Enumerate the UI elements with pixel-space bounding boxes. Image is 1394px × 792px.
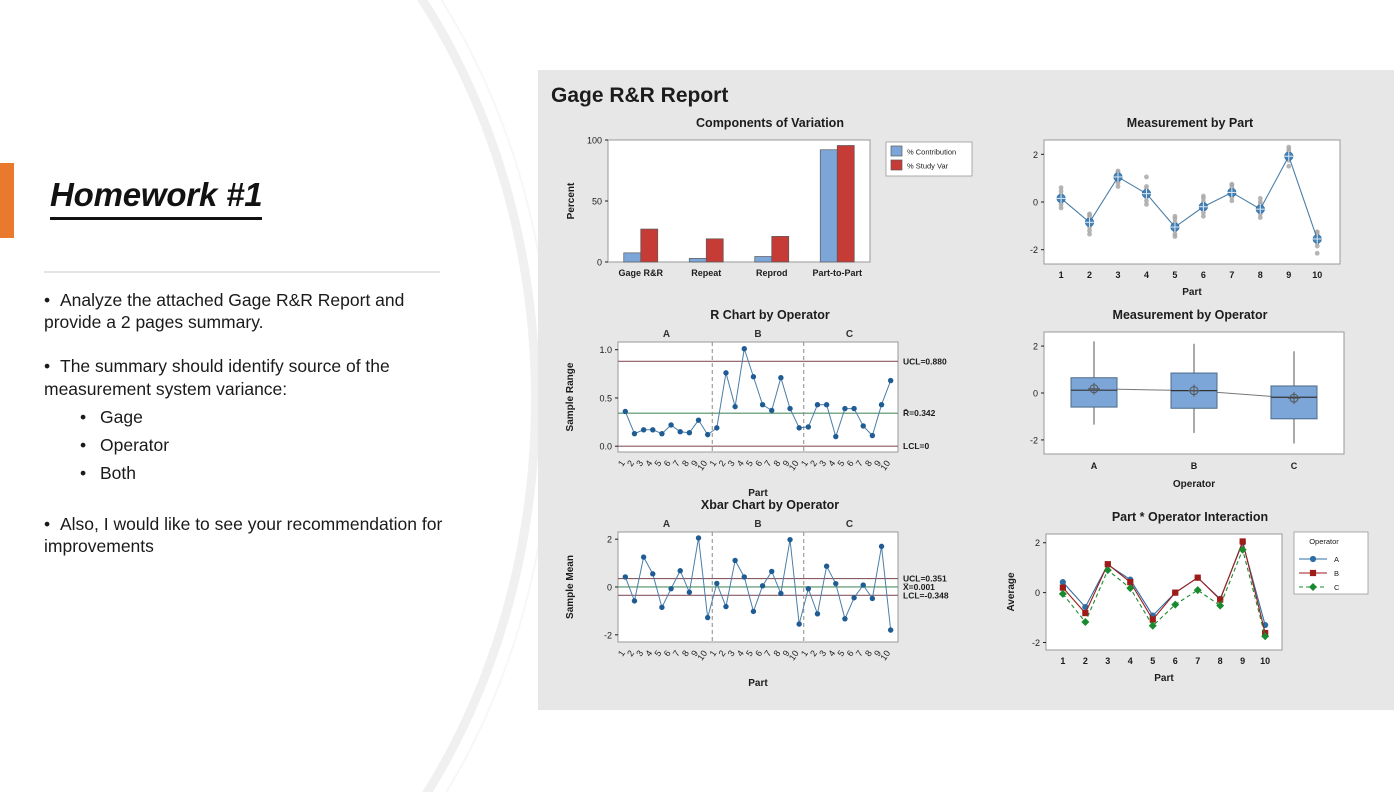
svg-text:10: 10 <box>787 648 801 662</box>
svg-text:0: 0 <box>597 258 602 268</box>
chart-title: Components of Variation <box>560 116 980 130</box>
svg-text:9: 9 <box>1286 270 1291 280</box>
chart-title: Xbar Chart by Operator <box>560 498 980 512</box>
svg-text:7: 7 <box>1229 270 1234 280</box>
svg-text:5: 5 <box>1150 656 1155 666</box>
svg-text:10: 10 <box>695 458 709 472</box>
sub-bullet-text: Gage <box>100 407 143 427</box>
svg-text:100: 100 <box>587 136 602 146</box>
bullet-dot-icon: • <box>80 462 100 484</box>
svg-text:A: A <box>1091 461 1098 471</box>
svg-text:10: 10 <box>787 458 801 472</box>
list-item: •Gage <box>80 406 444 428</box>
svg-text:10: 10 <box>878 458 892 472</box>
svg-text:Repeat: Repeat <box>691 268 721 278</box>
slide-canvas: Homework #1 •Analyze the attached Gage R… <box>0 0 1394 792</box>
sub-bullet-text: Both <box>100 463 136 483</box>
chart-components-of-variation: Components of Variation 050100PercentGag… <box>560 116 980 307</box>
gage-rr-report-panel: Gage R&R Report Components of Variation … <box>538 70 1394 710</box>
chart-xbar-chart-by-operator: Xbar Chart by Operator -202Sample MeanAB… <box>560 498 980 694</box>
svg-text:Part-to-Part: Part-to-Part <box>812 268 862 278</box>
bullet-text: Analyze the attached Gage R&R Report and… <box>44 290 404 332</box>
svg-text:7: 7 <box>1195 656 1200 666</box>
bullet-dot-icon: • <box>44 355 60 377</box>
chart-title: R Chart by Operator <box>560 308 980 322</box>
list-item: •The summary should identify source of t… <box>44 355 444 399</box>
svg-text:Part: Part <box>1182 287 1202 298</box>
svg-text:A: A <box>663 519 670 530</box>
svg-text:1: 1 <box>1059 270 1064 280</box>
svg-text:10: 10 <box>695 648 709 662</box>
svg-text:Reprod: Reprod <box>756 268 788 278</box>
chart-measurement-by-part: Measurement by Part -20212345678910Part <box>1000 116 1380 307</box>
accent-bar <box>0 163 14 238</box>
chart-canvas: 0.00.51.0Sample RangeABC1234567891012345… <box>560 324 980 502</box>
list-item: •Both <box>80 462 444 484</box>
spacer <box>44 491 444 513</box>
page-title: Homework #1 <box>50 176 262 220</box>
svg-text:-2: -2 <box>604 630 612 640</box>
svg-text:Operator: Operator <box>1309 537 1339 546</box>
chart-title: Measurement by Part <box>1000 116 1380 130</box>
svg-text:4: 4 <box>1128 656 1133 666</box>
spacer <box>44 333 444 355</box>
svg-text:UCL=0.880: UCL=0.880 <box>903 356 947 366</box>
svg-text:B: B <box>754 519 761 530</box>
bullet-dot-icon: • <box>44 289 60 311</box>
svg-text:C: C <box>846 519 853 530</box>
chart-canvas: -202Average12345678910PartOperatorABC <box>1000 526 1380 696</box>
svg-text:2: 2 <box>1033 342 1038 352</box>
bullet-dot-icon: • <box>80 434 100 456</box>
svg-text:50: 50 <box>592 197 602 207</box>
svg-text:Sample Mean: Sample Mean <box>565 555 576 619</box>
chart-canvas: -20212345678910Part <box>1000 132 1380 307</box>
svg-text:6: 6 <box>1173 656 1178 666</box>
svg-text:R̄=0.342: R̄=0.342 <box>903 408 936 418</box>
svg-text:% Study Var: % Study Var <box>907 162 949 171</box>
svg-text:A: A <box>1334 555 1339 564</box>
svg-text:2: 2 <box>1033 150 1038 160</box>
list-item: •Analyze the attached Gage R&R Report an… <box>44 289 444 333</box>
svg-text:2: 2 <box>1083 656 1088 666</box>
svg-text:2: 2 <box>607 535 612 545</box>
svg-text:Part: Part <box>748 678 768 689</box>
svg-text:0: 0 <box>1035 588 1040 598</box>
svg-text:3: 3 <box>1105 656 1110 666</box>
svg-text:Sample Range: Sample Range <box>565 362 576 431</box>
svg-text:1.0: 1.0 <box>599 345 612 355</box>
svg-text:Operator: Operator <box>1173 479 1215 490</box>
svg-text:B: B <box>754 329 761 340</box>
svg-text:0.0: 0.0 <box>599 442 612 452</box>
svg-text:3: 3 <box>1115 270 1120 280</box>
svg-text:B: B <box>1191 461 1198 471</box>
title-divider <box>44 271 440 273</box>
chart-title: Measurement by Operator <box>1000 308 1380 322</box>
svg-text:8: 8 <box>1218 656 1223 666</box>
bullet-text: The summary should identify source of th… <box>44 356 390 398</box>
svg-text:Average: Average <box>1006 572 1017 612</box>
chart-canvas: 050100PercentGage R&RRepeatReprodPart-to… <box>560 132 980 307</box>
report-title: Gage R&R Report <box>551 84 728 108</box>
chart-title: Part * Operator Interaction <box>1000 510 1380 524</box>
svg-text:4: 4 <box>1144 270 1149 280</box>
chart-r-chart-by-operator: R Chart by Operator 0.00.51.0Sample Rang… <box>560 308 980 502</box>
svg-text:0: 0 <box>1033 389 1038 399</box>
svg-text:10: 10 <box>1260 656 1270 666</box>
bullet-dot-icon: • <box>80 406 100 428</box>
svg-text:6: 6 <box>1201 270 1206 280</box>
svg-text:8: 8 <box>1258 270 1263 280</box>
svg-text:-2: -2 <box>1032 638 1040 648</box>
svg-text:5: 5 <box>1172 270 1177 280</box>
svg-text:C: C <box>1291 461 1298 471</box>
svg-text:10: 10 <box>1312 270 1322 280</box>
svg-text:-2: -2 <box>1030 245 1038 255</box>
svg-text:-2: -2 <box>1030 435 1038 445</box>
bullet-dot-icon: • <box>44 513 60 535</box>
svg-text:LCL=0: LCL=0 <box>903 441 929 451</box>
svg-text:10: 10 <box>878 648 892 662</box>
bullet-text: Also, I would like to see your recommend… <box>44 514 442 556</box>
chart-canvas: -202Sample MeanABC1234567891012345678910… <box>560 514 980 694</box>
svg-text:9: 9 <box>1240 656 1245 666</box>
svg-text:0: 0 <box>607 583 612 593</box>
list-item: •Also, I would like to see your recommen… <box>44 513 444 557</box>
svg-text:B: B <box>1334 569 1339 578</box>
svg-text:C: C <box>1334 583 1340 592</box>
sub-bullet-text: Operator <box>100 435 169 455</box>
sub-bullet-list: •Gage •Operator •Both <box>80 406 444 485</box>
list-item: •Operator <box>80 434 444 456</box>
svg-text:A: A <box>663 329 670 340</box>
svg-text:Gage R&R: Gage R&R <box>618 268 663 278</box>
svg-text:2: 2 <box>1035 538 1040 548</box>
chart-part-operator-interaction: Part * Operator Interaction -202Average1… <box>1000 510 1380 696</box>
svg-text:Part: Part <box>1154 673 1174 684</box>
svg-text:Percent: Percent <box>566 182 577 219</box>
chart-measurement-by-operator: Measurement by Operator -202ABCOperator <box>1000 308 1380 502</box>
svg-text:0.5: 0.5 <box>599 393 612 403</box>
svg-text:C: C <box>846 329 853 340</box>
svg-text:2: 2 <box>1087 270 1092 280</box>
svg-text:% Contribution: % Contribution <box>907 148 956 157</box>
chart-canvas: -202ABCOperator <box>1000 324 1380 502</box>
slide-body: •Analyze the attached Gage R&R Report an… <box>44 289 444 557</box>
svg-text:LCL=-0.348: LCL=-0.348 <box>903 590 949 600</box>
svg-text:0: 0 <box>1033 198 1038 208</box>
svg-text:1: 1 <box>1060 656 1065 666</box>
